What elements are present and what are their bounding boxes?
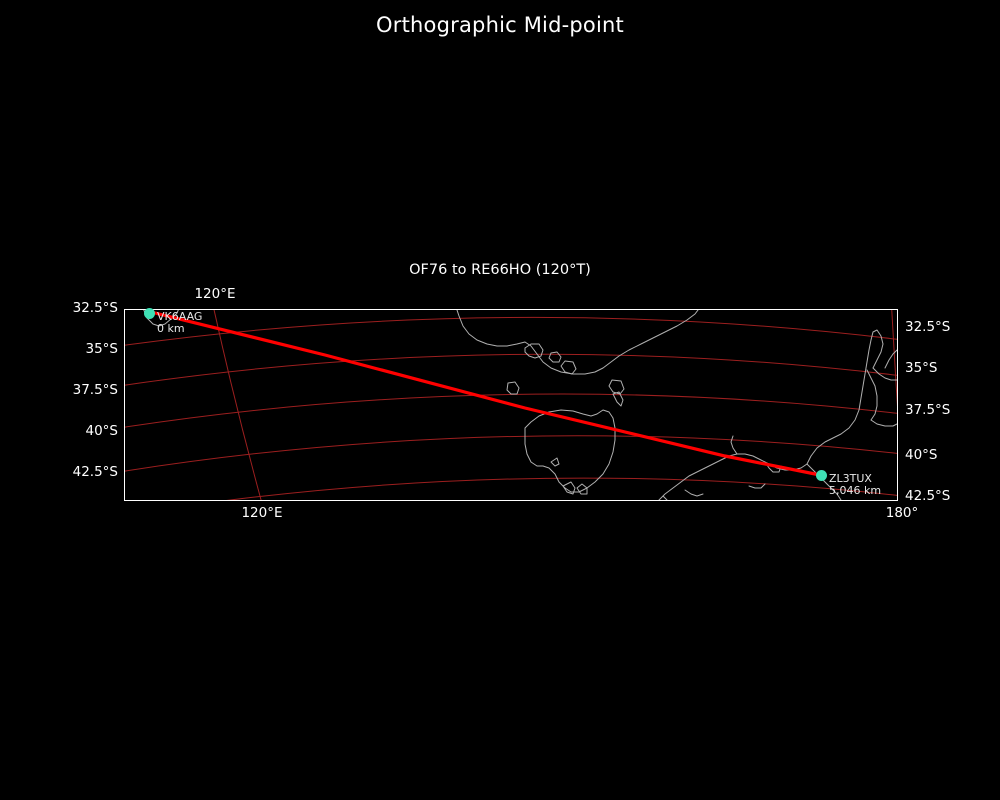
axis-label-left-1: 35°S [18,341,118,357]
axis-label-left-4: 42.5°S [18,464,118,480]
endpoint-distance-zl3tux: 5,046 km [829,485,881,497]
map-plot-area[interactable] [124,309,898,501]
axis-label-left-2: 37.5°S [18,382,118,398]
endpoint-marker-zl3tux[interactable] [816,470,827,481]
coastline-australia [143,310,701,406]
endpoint-label-zl3tux: ZL3TUX 5,046 km [829,473,881,497]
axis-label-left-3: 40°S [18,423,118,439]
axis-label-right-3: 40°S [905,447,1000,463]
axis-label-right-4: 42.5°S [905,488,1000,504]
page-title: Orthographic Mid-point [0,13,1000,37]
figure-canvas: Orthographic Mid-point OF76 to RE66HO (1… [0,0,1000,800]
axis-label-right-1: 35°S [905,360,1000,376]
axis-label-top-0: 120°E [165,286,265,302]
map-subtitle: OF76 to RE66HO (120°T) [0,262,1000,278]
axis-label-bottom-1: 180° [852,505,952,521]
endpoint-label-vk6aag: VK6AAG 0 km [157,311,202,335]
coastline-tasmania [525,410,615,494]
great-circle-path [151,312,825,476]
endpoint-distance-vk6aag: 0 km [157,323,202,335]
endpoint-marker-vk6aag[interactable] [144,308,155,319]
axis-label-bottom-0: 120°E [212,505,312,521]
axis-label-left-0: 32.5°S [18,300,118,316]
axis-label-right-2: 37.5°S [905,402,1000,418]
axis-label-right-0: 32.5°S [905,319,1000,335]
map-graphic [125,310,897,500]
